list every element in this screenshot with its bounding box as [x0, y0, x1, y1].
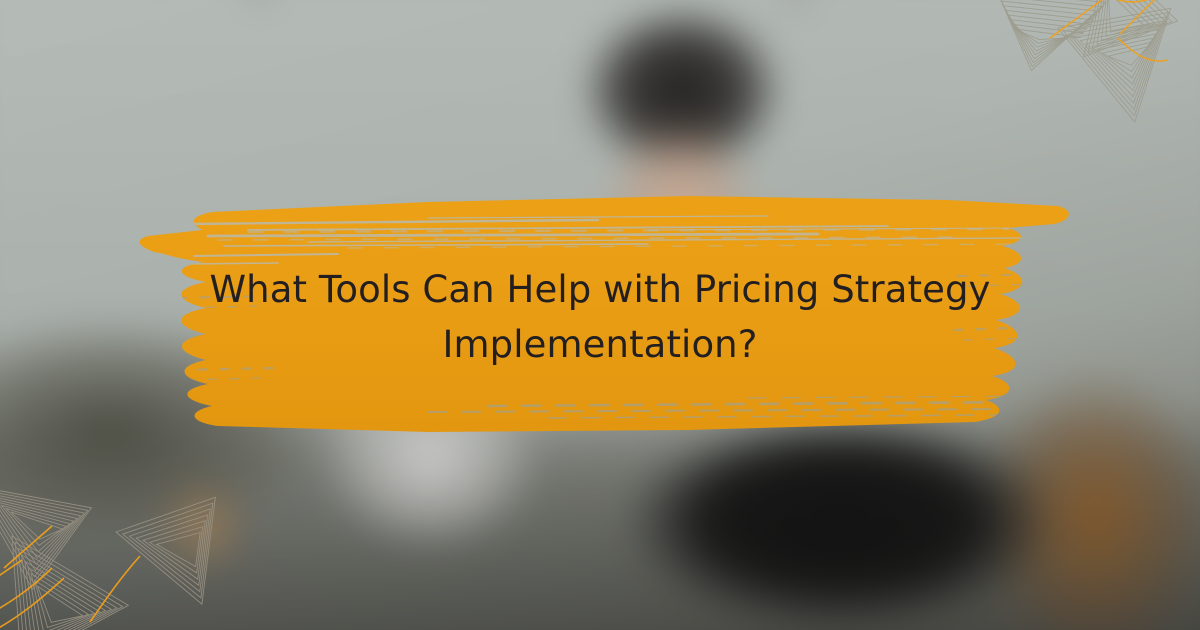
social-card-canvas: What Tools Can Help with Pricing Strateg… — [0, 0, 1200, 630]
page-title: What Tools Can Help with Pricing Strateg… — [170, 262, 1030, 372]
